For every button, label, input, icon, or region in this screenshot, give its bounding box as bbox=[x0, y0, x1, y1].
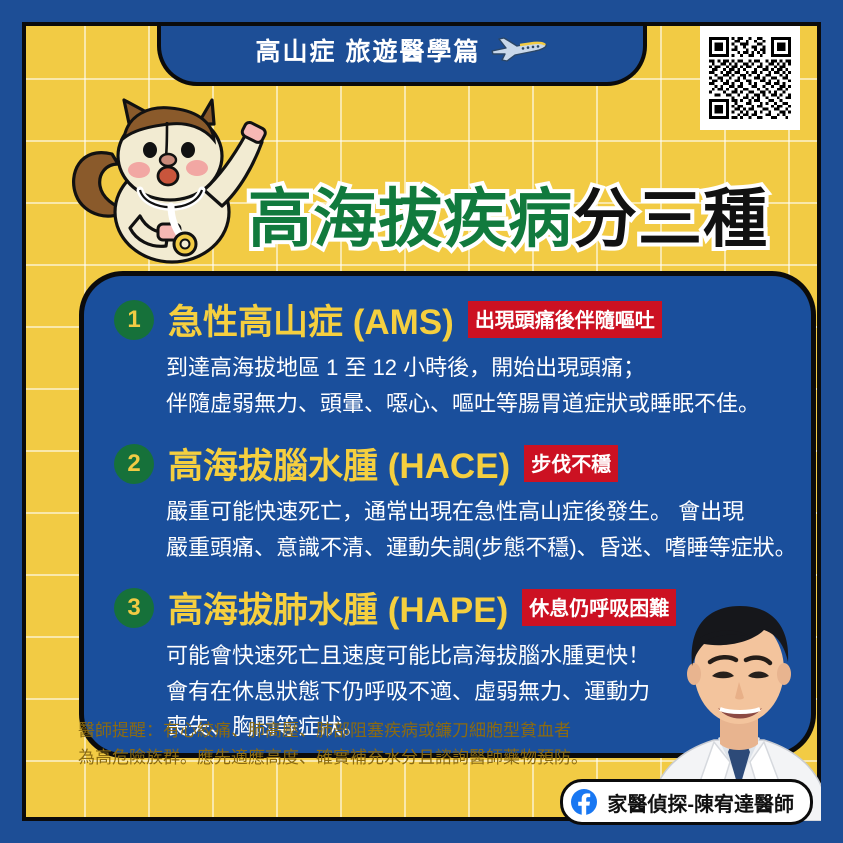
facebook-icon bbox=[570, 788, 598, 816]
item-body-line: 到達高海拔地區 1 至 12 小時後，開始出現頭痛； bbox=[166, 350, 811, 386]
item-tag-badge: 休息仍呼吸困難 bbox=[522, 589, 676, 626]
item-body-line: 伴隨虛弱無力、頭暈、噁心、嘔吐等腸胃道症狀或睡眠不佳。 bbox=[166, 386, 811, 422]
item-body: 到達高海拔地區 1 至 12 小時後，開始出現頭痛； 伴隨虛弱無力、頭暈、噁心、… bbox=[84, 345, 811, 421]
list-item: 2 高海拔腦水腫 (HACE) 步伐不穩 嚴重可能快速死亡，通常出現在急性高山症… bbox=[84, 438, 811, 565]
disclaimer: 醫師提醒：有心絞痛、肺高壓、肺部阻塞疾病或鐮刀細胞型貧血者 為高危險族群。應先適… bbox=[78, 718, 588, 771]
qr-code-icon bbox=[709, 37, 791, 119]
facebook-page-name: 家醫偵探-陳宥達醫師 bbox=[607, 788, 794, 817]
item-number-badge: 1 bbox=[114, 300, 154, 340]
qr-code[interactable] bbox=[700, 26, 800, 130]
list-item: 1 急性高山症 (AMS) 出現頭痛後伴隨嘔吐 到達高海拔地區 1 至 12 小… bbox=[84, 294, 811, 421]
item-tag-badge: 步伐不穩 bbox=[524, 445, 618, 482]
item-body-line: 嚴重可能快速死亡，通常出現在急性高山症後發生。 會出現 bbox=[166, 494, 811, 530]
item-tag-badge: 出現頭痛後伴隨嘔吐 bbox=[468, 301, 662, 338]
item-title: 高海拔腦水腫 (HACE) bbox=[168, 438, 510, 489]
item-title: 急性高山症 (AMS) bbox=[168, 294, 454, 345]
disclaimer-line: 醫師提醒：有心絞痛、肺高壓、肺部阻塞疾病或鐮刀細胞型貧血者 bbox=[78, 718, 588, 744]
header-title: 高山症 旅遊醫學篇 bbox=[256, 32, 481, 70]
facebook-badge[interactable]: 家醫偵探-陳宥達醫師 bbox=[560, 779, 813, 825]
item-title: 高海拔肺水腫 (HAPE) bbox=[168, 582, 508, 633]
item-number-badge: 2 bbox=[114, 444, 154, 484]
item-header: 1 急性高山症 (AMS) 出現頭痛後伴隨嘔吐 bbox=[84, 294, 811, 345]
page-title: 高海拔疾病分三種 bbox=[248, 168, 768, 260]
item-header: 2 高海拔腦水腫 (HACE) 步伐不穩 bbox=[84, 438, 811, 489]
item-number-badge: 3 bbox=[114, 588, 154, 628]
page-title-black: 分三種 bbox=[573, 183, 768, 255]
squirrel-doctor-mascot bbox=[54, 94, 269, 269]
airplane-icon bbox=[490, 32, 548, 67]
infographic-poster: 高山症 旅遊醫學篇 bbox=[0, 0, 843, 843]
disclaimer-line: 為高危險族群。應先適應高度、確實補充水分且諮詢醫師藥物預防。 bbox=[78, 745, 588, 771]
item-body: 嚴重可能快速死亡，通常出現在急性高山症後發生。 會出現 嚴重頭痛、意識不清、運動… bbox=[84, 489, 811, 565]
header-ribbon: 高山症 旅遊醫學篇 bbox=[157, 22, 647, 86]
item-body-line: 嚴重頭痛、意識不清、運動失調(步態不穩)、昏迷、嗜睡等症狀。 bbox=[166, 530, 811, 566]
page-title-green: 高海拔疾病 bbox=[248, 183, 573, 255]
